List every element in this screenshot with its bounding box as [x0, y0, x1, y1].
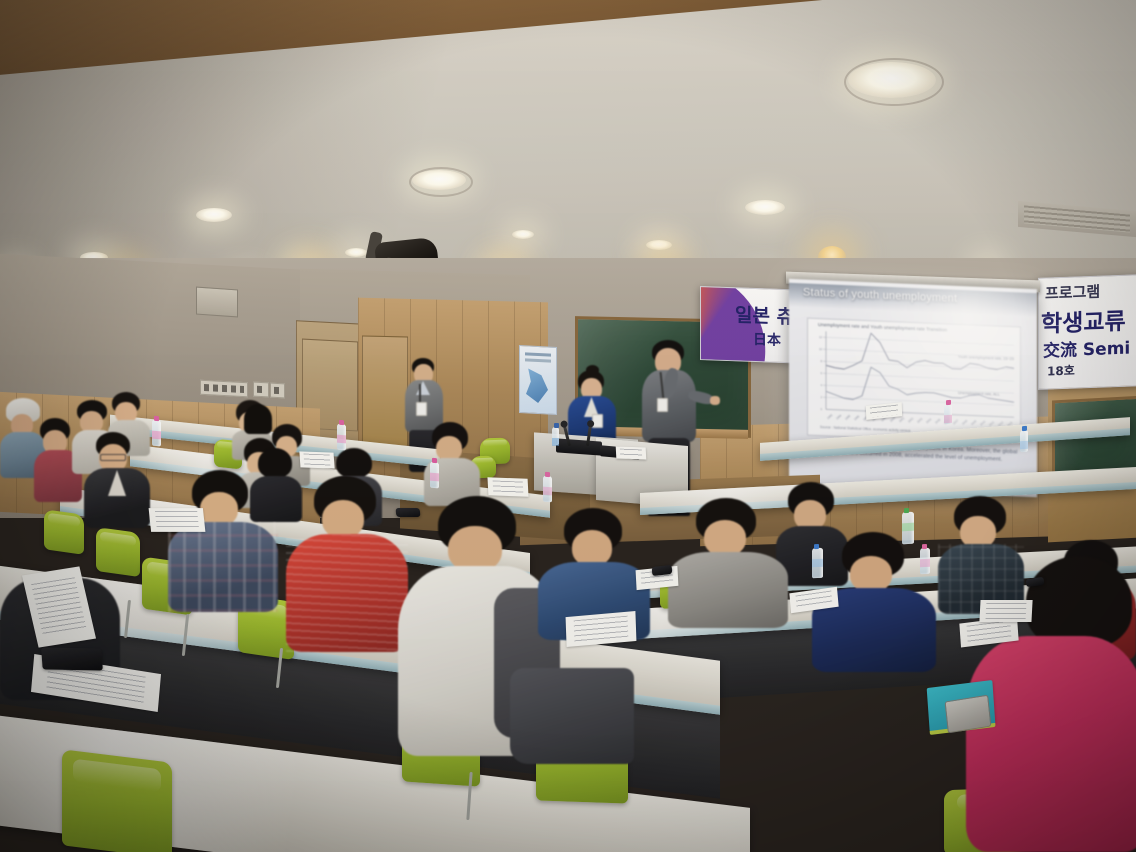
svg-text:1995: 1995: [844, 414, 852, 421]
water-bottle[interactable]: [944, 404, 952, 425]
svg-text:0: 0: [821, 407, 823, 411]
light-switch-plate[interactable]: [200, 380, 248, 398]
audience-member-glasses: [84, 432, 154, 528]
projection-screen: Status of youth unemployment Unemploymen…: [789, 279, 1037, 497]
ceiling-shading: [0, 0, 1136, 300]
chart-y-ticks: [823, 337, 826, 397]
tablet-device[interactable]: [945, 695, 992, 734]
water-bottle[interactable]: [1020, 430, 1028, 453]
wall-poster: [519, 345, 557, 415]
downlight: [646, 240, 672, 250]
series-total-unemployment: [826, 365, 1014, 406]
light-switch-plate[interactable]: [253, 382, 269, 398]
audience-head: [704, 520, 746, 556]
audience-torso-pink: [966, 636, 1136, 852]
audience-member: [398, 496, 558, 756]
svg-text:2001: 2001: [898, 416, 906, 423]
svg-text:2004: 2004: [925, 417, 933, 424]
handout-paper[interactable]: [149, 508, 206, 532]
smartphone-on-desk[interactable]: [41, 648, 103, 671]
svg-text:2002: 2002: [907, 416, 915, 423]
banner-right-seminar-text: 交流 Semi: [1043, 334, 1130, 362]
downlight: [196, 208, 232, 222]
stripe-pattern: [286, 534, 408, 652]
staff-name-badge: [416, 402, 427, 416]
chair[interactable]: [44, 509, 84, 555]
plaid-pattern: [168, 522, 278, 612]
handout-paper[interactable]: [487, 477, 528, 496]
banner-right-room-number: 18호: [1047, 362, 1075, 380]
svg-text:2: 2: [821, 395, 823, 399]
podium-water-bottle[interactable]: [552, 427, 559, 445]
audience-head: [850, 556, 892, 592]
handout-paper[interactable]: [979, 600, 1032, 622]
audience-member: [668, 498, 788, 628]
svg-text:6: 6: [821, 371, 823, 375]
podium-papers: [616, 446, 647, 459]
downlight: [745, 200, 785, 215]
handout-paper[interactable]: [566, 611, 637, 647]
audience-hair: [1026, 556, 1132, 648]
chart-gridlines: [826, 337, 1014, 417]
water-bottle[interactable]: [920, 548, 930, 575]
wall-speaker: [196, 287, 238, 318]
slide-chart-container: Unemployment rate and Youth unemployment…: [807, 318, 1021, 445]
svg-text:1994: 1994: [835, 413, 843, 420]
audience-torso-gray: [668, 552, 788, 628]
water-bottle[interactable]: [543, 476, 552, 503]
audience-member: [168, 470, 278, 612]
audience-head: [572, 530, 612, 566]
water-bottle[interactable]: [902, 512, 914, 545]
chair[interactable]: [62, 749, 172, 852]
banner-right-exchange-text: 학생교류: [1041, 302, 1126, 339]
series-youth-unemployment: [826, 331, 1014, 376]
banner-right: 프로그램 학생교류 交流 Semi 18호: [1038, 274, 1136, 390]
svg-text:2007: 2007: [952, 418, 960, 425]
audience-hair: [336, 448, 372, 478]
svg-text:1993: 1993: [826, 413, 834, 420]
moderator-hair-bun: [586, 365, 599, 375]
ceiling: [0, 0, 1136, 300]
svg-text:2003: 2003: [916, 417, 924, 424]
audience-hair-ponytail: [244, 404, 272, 434]
svg-text:2005: 2005: [934, 417, 942, 424]
handout-paper[interactable]: [299, 451, 334, 468]
banner-right-program-text: 프로그램: [1045, 281, 1100, 304]
water-bottle[interactable]: [152, 420, 161, 447]
svg-text:2009: 2009: [970, 419, 978, 426]
unemployment-line-chart: 1993 1994 1995 1996 1997 1998 1999 2000 …: [808, 319, 1020, 444]
banner-left-japanese-text: 日本: [753, 329, 781, 350]
svg-text:12: 12: [819, 335, 822, 339]
svg-text:1996: 1996: [853, 414, 861, 421]
svg-text:4: 4: [821, 383, 823, 387]
svg-text:8: 8: [821, 359, 823, 363]
staff-lanyard: [419, 384, 421, 404]
jacket-on-chair: [510, 668, 634, 764]
audience-head: [322, 500, 364, 538]
chart-legend-total-text: Unemployment rate, ALL: [958, 391, 1000, 397]
light-switch-plate[interactable]: [270, 383, 285, 399]
downlight-ring: [409, 167, 473, 197]
water-bottle[interactable]: [337, 424, 346, 451]
chart-y-tick-labels: 1210 86 42 0: [819, 335, 822, 411]
downlight-ring: [844, 58, 944, 106]
water-bottle[interactable]: [430, 462, 439, 489]
smartphone[interactable]: [395, 508, 420, 517]
audience-member: [286, 476, 408, 652]
svg-text:2010: 2010: [979, 419, 987, 426]
eyeglasses: [100, 454, 126, 461]
seminar-room-photo: 일본 츄오 日本 프로그램 학생교류 交流 Semi 18호 Status of…: [0, 0, 1136, 852]
svg-text:2008: 2008: [961, 419, 969, 426]
downlight: [512, 230, 534, 239]
audience-head: [200, 492, 238, 526]
water-bottle[interactable]: [812, 548, 823, 579]
presenter-hand: [710, 396, 720, 405]
svg-text:10: 10: [819, 347, 822, 351]
presenter-name-badge: [657, 398, 668, 412]
